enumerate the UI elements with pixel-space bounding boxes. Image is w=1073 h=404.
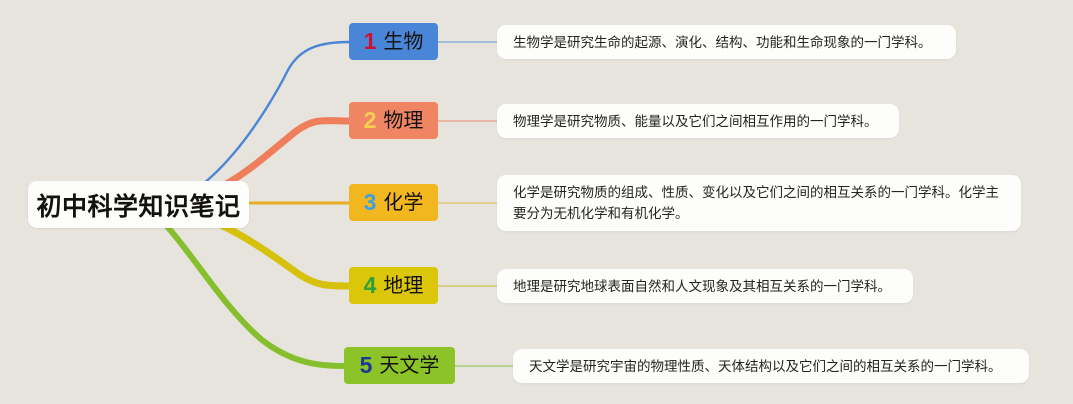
description-bubble-4[interactable]: 地理是研究地球表面自然和人文现象及其相互关系的一门学科。 (497, 269, 913, 303)
description-bubble-5[interactable]: 天文学是研究宇宙的物理性质、天体结构以及它们之间的相互关系的一门学科。 (513, 349, 1029, 383)
topic-name-3: 化学 (383, 193, 423, 213)
description-bubble-1[interactable]: 生物学是研究生命的起源、演化、结构、功能和生命现象的一门学科。 (497, 25, 956, 59)
description-bubble-2[interactable]: 物理学是研究物质、能量以及它们之间相互作用的一门学科。 (497, 104, 899, 138)
topic-name-4: 地理 (383, 276, 423, 296)
topic-node-2[interactable]: 2 物理 (349, 102, 438, 139)
root-node[interactable]: 初中科学知识笔记 (28, 181, 249, 228)
topic-number-3: 3 (364, 191, 377, 214)
topic-node-3[interactable]: 3 化学 (349, 184, 438, 221)
topic-number-5: 5 (360, 354, 373, 377)
description-bubble-3[interactable]: 化学是研究物质的组成、性质、变化以及它们之间的相互关系的一门学科。化学主要分为无… (497, 175, 1021, 231)
topic-node-5[interactable]: 5 天文学 (344, 347, 455, 384)
description-text-2: 物理学是研究物质、能量以及它们之间相互作用的一门学科。 (513, 111, 878, 132)
root-node-label: 初中科学知识笔记 (36, 187, 240, 223)
topic-number-4: 4 (364, 274, 377, 297)
topic-node-4[interactable]: 4 地理 (349, 267, 438, 304)
description-text-4: 地理是研究地球表面自然和人文现象及其相互关系的一门学科。 (513, 276, 891, 297)
description-text-5: 天文学是研究宇宙的物理性质、天体结构以及它们之间的相互关系的一门学科。 (529, 356, 1002, 377)
topic-name-5: 天文学 (379, 356, 439, 376)
topic-number-2: 2 (364, 109, 377, 132)
mindmap-canvas: 初中科学知识笔记 1 生物 2 物理 3 化学 4 地理 5 天文学 生物学是研… (0, 0, 1073, 404)
topic-name-2: 物理 (383, 111, 423, 131)
edge-curve-5 (145, 206, 344, 366)
topic-name-1: 生物 (383, 32, 423, 52)
description-text-3: 化学是研究物质的组成、性质、变化以及它们之间的相互关系的一门学科。化学主要分为无… (513, 182, 1005, 224)
topic-number-1: 1 (364, 30, 377, 53)
description-text-1: 生物学是研究生命的起源、演化、结构、功能和生命现象的一门学科。 (513, 32, 932, 53)
topic-node-1[interactable]: 1 生物 (349, 23, 438, 60)
